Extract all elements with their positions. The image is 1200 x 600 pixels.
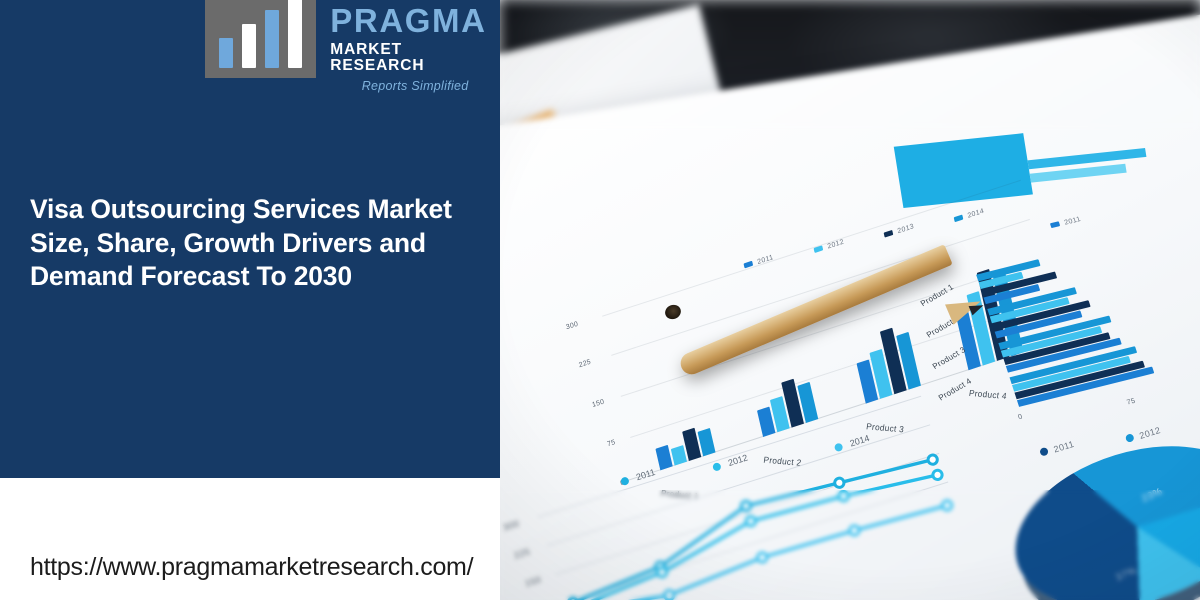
navy-panel: PRAGMA MARKET RESEARCH Reports Simplifie…	[0, 0, 500, 478]
page-title: Visa Outsourcing Services Market Size, S…	[30, 193, 475, 294]
x-tick-75: 75	[1126, 398, 1136, 407]
legend-label: 2012	[1138, 425, 1162, 441]
chart-pie: 23% 37% 2011 2012	[996, 416, 1200, 600]
legend-swatch	[814, 245, 824, 253]
svg-text:2011: 2011	[635, 467, 656, 482]
logo-bar-2	[242, 24, 256, 68]
legend-swatch	[1125, 433, 1135, 443]
legend-label: 2011	[757, 254, 774, 266]
brand-wordmark: PRAGMA MARKET RESEARCH Reports Simplifie…	[330, 0, 500, 93]
pie-body	[996, 419, 1200, 600]
svg-text:150: 150	[524, 574, 543, 589]
bar-chart-logo-mark	[205, 0, 316, 78]
legend-label: 2012	[827, 238, 845, 250]
y-tick-225: 225	[578, 359, 592, 370]
website-url[interactable]: https://www.pragmamarketresearch.com/	[30, 553, 473, 582]
legend-swatch	[954, 215, 964, 223]
svg-text:2012: 2012	[727, 452, 749, 468]
svg-text:225: 225	[513, 546, 532, 561]
logo-bar-4	[288, 0, 302, 68]
legend-label: 2014	[967, 208, 985, 220]
y-tick-150: 150	[591, 398, 605, 409]
cyan-block-chart-bar	[1028, 148, 1147, 169]
legend-label: 2011	[1052, 439, 1075, 455]
brand-tagline: Reports Simplified	[330, 79, 500, 93]
logo-bar-3	[265, 10, 279, 68]
legend-swatch	[1050, 221, 1060, 228]
brand-logo[interactable]: PRAGMA MARKET RESEARCH Reports Simplifie…	[205, 0, 500, 93]
category-label: Product 4	[968, 388, 1007, 401]
banner-root: 0 75 150 225 300	[0, 0, 1200, 600]
x-tick-0: 0	[1017, 414, 1023, 422]
brand-subtitle: MARKET RESEARCH	[330, 42, 500, 73]
legend-swatch	[884, 230, 894, 238]
svg-text:300: 300	[502, 518, 521, 533]
svg-text:2014: 2014	[849, 433, 871, 449]
legend-label: 2013	[897, 223, 915, 235]
logo-bar-1	[219, 38, 233, 68]
legend-label: 2011	[1064, 216, 1082, 227]
y-tick-75: 75	[607, 439, 617, 448]
hero-photo: 0 75 150 225 300	[500, 0, 1200, 600]
y-tick-300: 300	[565, 321, 579, 332]
brand-name: PRAGMA	[330, 4, 500, 37]
legend-swatch	[1039, 447, 1049, 457]
